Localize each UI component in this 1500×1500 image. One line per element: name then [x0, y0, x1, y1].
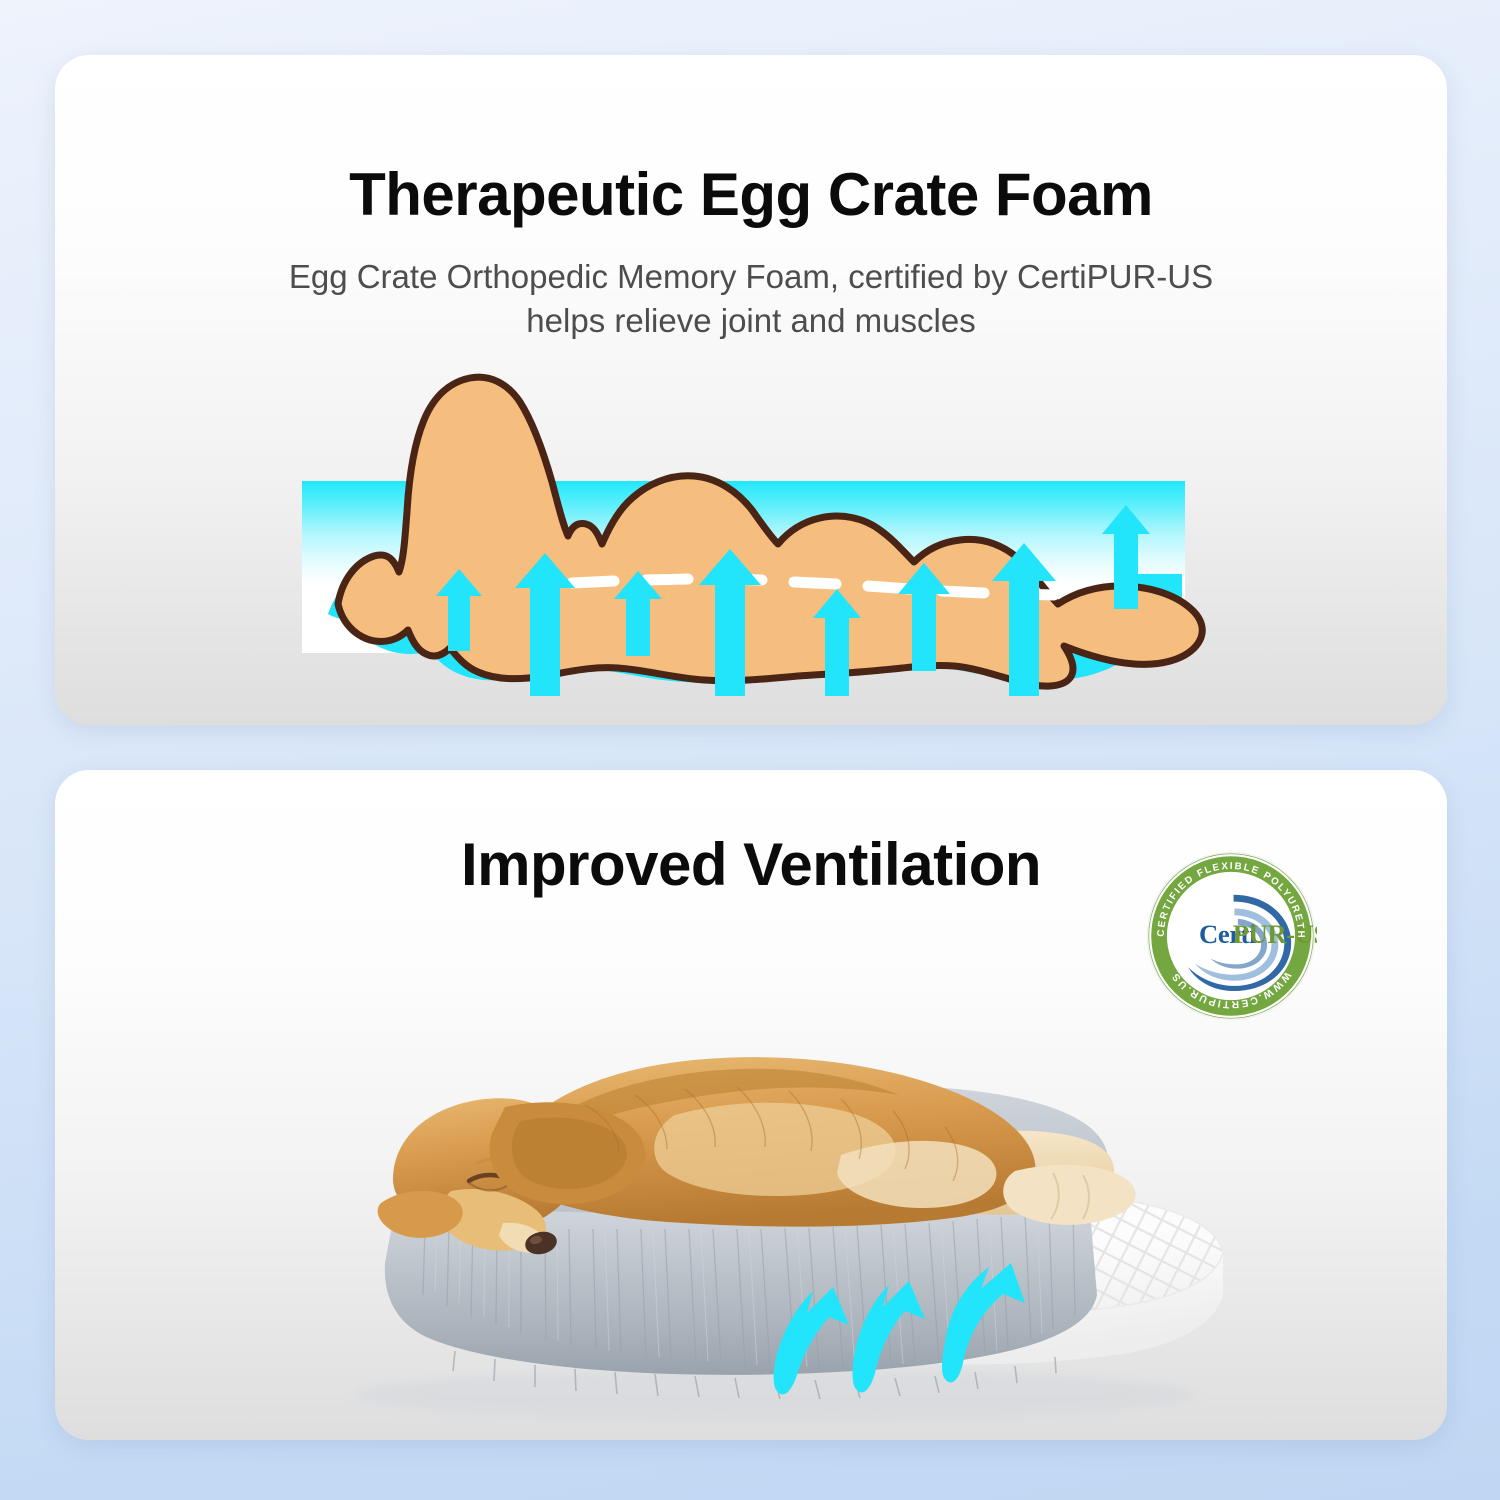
card-therapeutic-egg-crate-foam: Therapeutic Egg Crate Foam Egg Crate Ort…	[55, 55, 1447, 725]
subtitle-therapeutic-egg-crate-foam: Egg Crate Orthopedic Memory Foam, certif…	[55, 255, 1447, 343]
product-photo-dog-in-bed	[255, 995, 1255, 1425]
infographic-page: Therapeutic Egg Crate Foam Egg Crate Ort…	[0, 0, 1500, 1500]
subtitle-line-1: Egg Crate Orthopedic Memory Foam, certif…	[55, 255, 1447, 299]
dog-bed-photo-illustration	[255, 995, 1255, 1425]
foam-cross-section-illustration	[302, 481, 1185, 653]
airflow-arrows-icon	[302, 481, 1185, 696]
card-improved-ventilation: Improved Ventilation Certi PUR-US	[55, 770, 1447, 1440]
page-title-therapeutic-egg-crate-foam: Therapeutic Egg Crate Foam	[55, 160, 1447, 229]
